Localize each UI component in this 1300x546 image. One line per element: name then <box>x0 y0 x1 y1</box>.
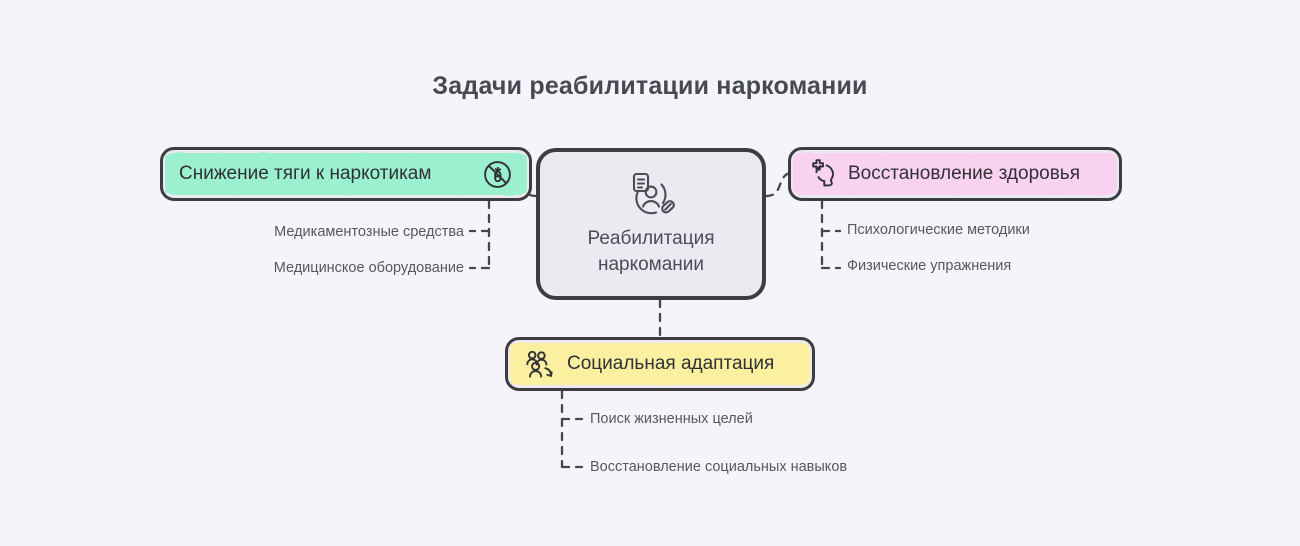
sub-item-pink-1: Психологические методики <box>847 222 1030 238</box>
branch-label-yellow: Социальная адаптация <box>567 353 774 375</box>
head-medical-cross-icon <box>807 159 838 190</box>
sub-item-pink-2: Физические упражнения <box>847 258 1011 274</box>
mindmap-canvas: Задачи реабилитации наркомании <box>0 0 1300 546</box>
branch-label-green: Снижение тяги к наркотикам <box>179 163 431 185</box>
sub-item-yellow-1: Поиск жизненных целей <box>590 411 753 427</box>
central-node-label: Реабилитациянаркомании <box>587 226 714 277</box>
branch-node-pink[interactable]: Восстановление здоровья <box>788 147 1122 201</box>
branch-node-yellow[interactable]: Социальная адаптация <box>505 337 815 391</box>
person-document-pill-icon <box>625 170 677 220</box>
central-node[interactable]: Реабилитациянаркомании <box>536 148 766 300</box>
branch-node-green[interactable]: Снижение тяги к наркотикам <box>160 147 532 201</box>
no-drugs-icon <box>482 159 513 190</box>
branch-label-pink: Восстановление здоровья <box>848 163 1080 185</box>
sub-item-green-1: Медикаментозные средства <box>274 224 464 240</box>
sub-item-green-2: Медицинское оборудование <box>274 260 464 276</box>
people-group-arrow-icon <box>524 349 557 380</box>
sub-item-yellow-2: Восстановление социальных навыков <box>590 459 847 475</box>
